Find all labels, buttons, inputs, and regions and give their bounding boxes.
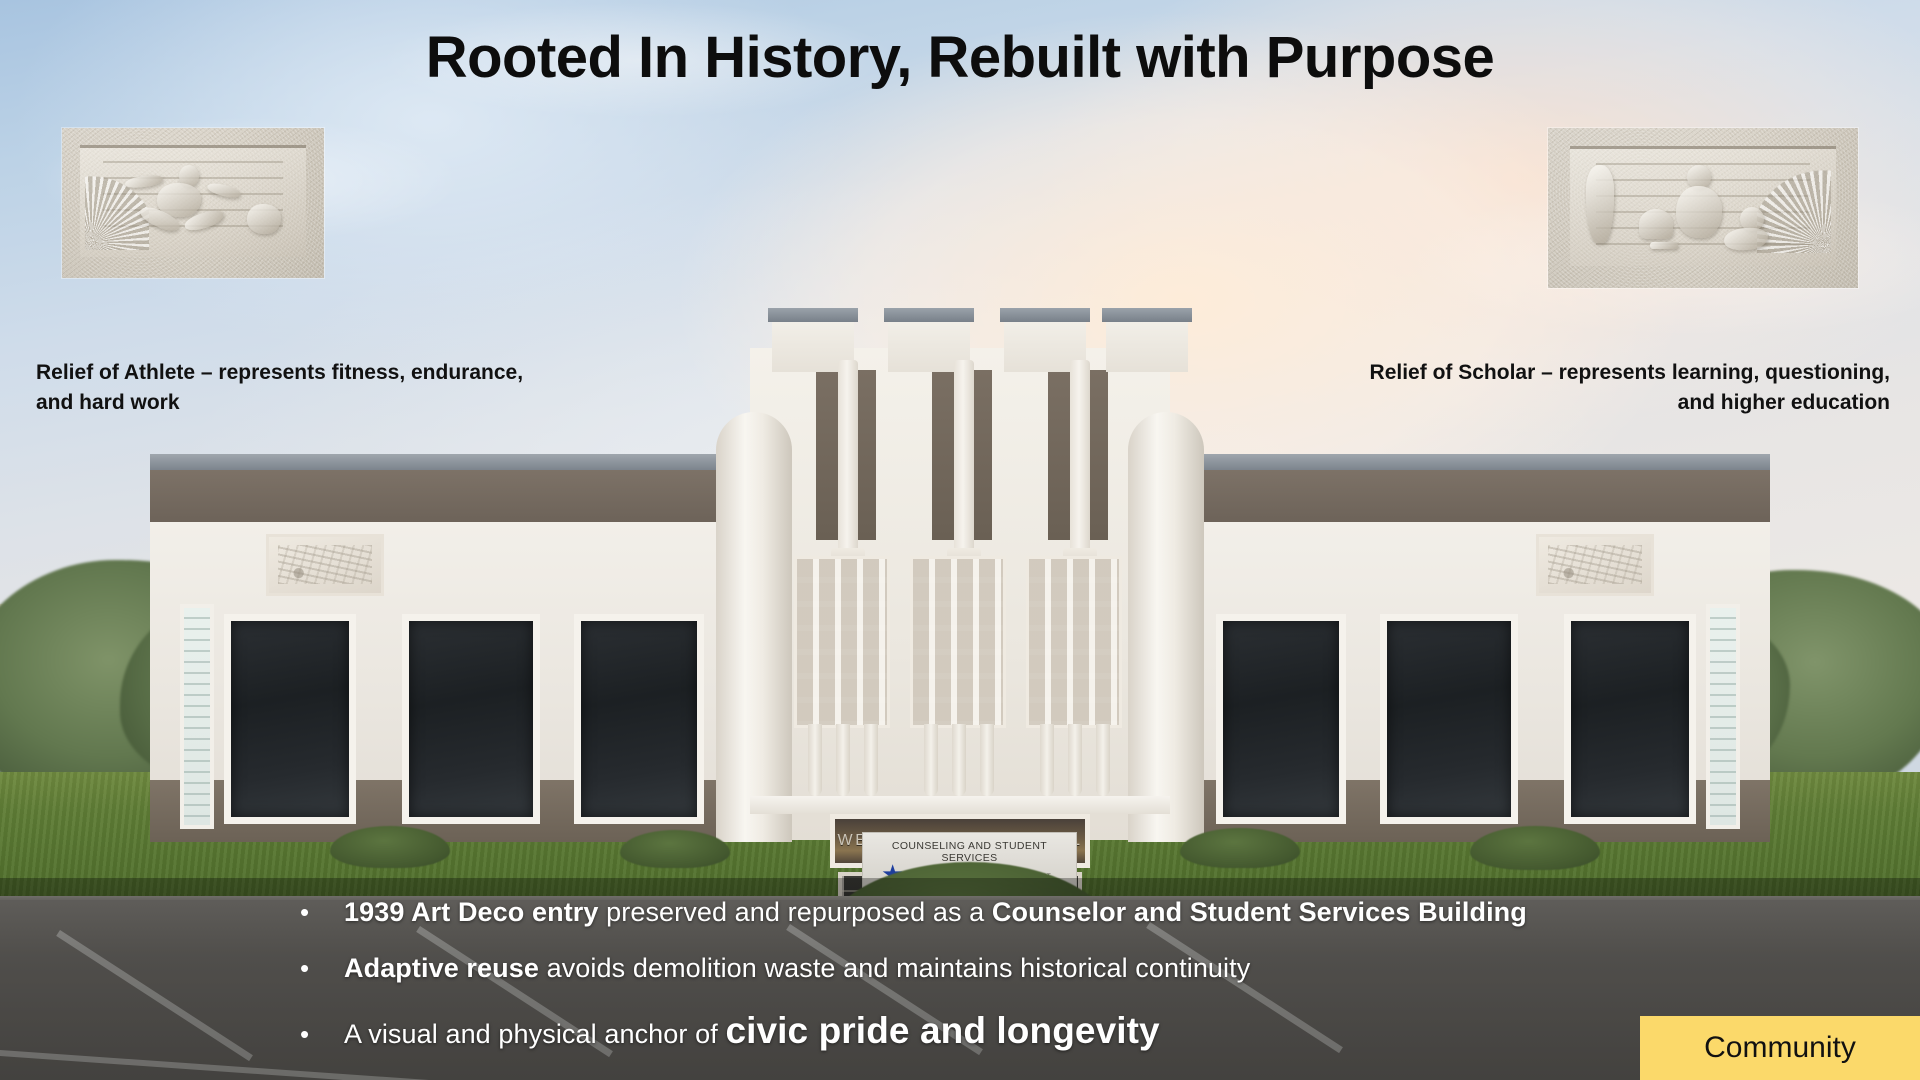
page-title: Rooted In History, Rebuilt with Purpose bbox=[0, 24, 1920, 91]
relief-of-athlete-caption: Relief of Athlete – represents fitness, … bbox=[36, 358, 556, 419]
bullet-marker: • bbox=[300, 1021, 344, 1047]
bullet-1-part-2: preserved and repurposed as a bbox=[599, 897, 992, 927]
tower-pilaster-4 bbox=[924, 724, 938, 796]
shrub-2 bbox=[620, 830, 730, 868]
window-right-2 bbox=[1380, 614, 1518, 824]
shrub-4 bbox=[1470, 826, 1600, 870]
bullet-text: Adaptive reuse avoids demolition waste a… bbox=[344, 952, 1250, 984]
building-wing-left bbox=[150, 454, 762, 842]
relief-of-scholar-image bbox=[1548, 128, 1858, 288]
glass-block-left-a bbox=[180, 604, 214, 829]
window-left-2 bbox=[402, 614, 540, 824]
bullet-3-part-1: A visual and physical anchor of bbox=[344, 1019, 725, 1049]
tower-merlon-4 bbox=[1106, 320, 1188, 372]
bullet-marker: • bbox=[300, 899, 344, 925]
bullet-3-part-2: civic pride and longevity bbox=[725, 1010, 1159, 1051]
window-left-3 bbox=[574, 614, 704, 824]
building-wing-right bbox=[1158, 454, 1770, 842]
tower-rotunda-right bbox=[1128, 412, 1204, 842]
slide-root: WEBSTER HIGH SCHOOL COUNSELING AND STUDE… bbox=[0, 0, 1920, 1080]
bullet-1-part-3: Counselor and Student Services Building bbox=[992, 897, 1527, 927]
bullet-1-part-1: 1939 Art Deco entry bbox=[344, 897, 599, 927]
relief-of-athlete-image bbox=[62, 128, 324, 278]
scholar-relief-frame bbox=[1570, 146, 1837, 266]
window-left-1 bbox=[224, 614, 356, 824]
tower-rotunda-left bbox=[716, 412, 792, 842]
tower-pilaster-1 bbox=[808, 724, 822, 796]
wing-brick-band-left bbox=[150, 470, 762, 522]
bullet-marker: • bbox=[300, 955, 344, 981]
tower-pilaster-8 bbox=[1068, 724, 1082, 796]
tower-pilaster-6 bbox=[980, 724, 994, 796]
tower-pilaster-7 bbox=[1040, 724, 1054, 796]
entry-lintel bbox=[750, 796, 1170, 814]
bullet-text: A visual and physical anchor of civic pr… bbox=[344, 1009, 1160, 1053]
community-badge[interactable]: Community bbox=[1640, 1016, 1920, 1080]
shrub-3 bbox=[1180, 828, 1300, 868]
art-deco-entry-tower: WEBSTER HIGH SCHOOL bbox=[710, 320, 1210, 840]
relief-of-scholar-caption: Relief of Scholar – represents learning,… bbox=[1330, 358, 1890, 419]
wing-cornice-left bbox=[150, 454, 762, 470]
tower-grille-2 bbox=[910, 556, 1006, 728]
scholar-left-figure bbox=[1586, 165, 1614, 243]
scholar-globe-icon bbox=[1639, 209, 1673, 239]
window-right-3 bbox=[1216, 614, 1346, 824]
bullet-2-part-1: Adaptive reuse bbox=[344, 953, 539, 983]
window-right-1 bbox=[1564, 614, 1696, 824]
athlete-relief-frame bbox=[80, 145, 305, 258]
tower-pilaster-3 bbox=[864, 724, 878, 796]
tower-pilaster-2 bbox=[836, 724, 850, 796]
bullet-list: • 1939 Art Deco entry preserved and repu… bbox=[300, 896, 1700, 1053]
wing-brick-band-right bbox=[1158, 470, 1770, 522]
facade-relief-panel-left bbox=[266, 534, 384, 596]
tower-grille-1 bbox=[794, 556, 890, 728]
scholar-relief-surface bbox=[1548, 128, 1858, 288]
list-item: • Adaptive reuse avoids demolition waste… bbox=[300, 952, 1700, 984]
athlete-relief-surface bbox=[62, 128, 324, 278]
tower-fin-2 bbox=[954, 360, 974, 552]
tower-pilaster-5 bbox=[952, 724, 966, 796]
tower-fin-1 bbox=[838, 360, 858, 552]
athlete-foliage bbox=[247, 204, 281, 234]
bullet-text: 1939 Art Deco entry preserved and repurp… bbox=[344, 896, 1527, 928]
tower-pilaster-9 bbox=[1096, 724, 1110, 796]
shrub-1 bbox=[330, 826, 450, 868]
facade-relief-panel-right bbox=[1536, 534, 1654, 596]
list-item: • 1939 Art Deco entry preserved and repu… bbox=[300, 896, 1700, 928]
tower-grille-3 bbox=[1026, 556, 1122, 728]
scholar-globe-stand bbox=[1650, 242, 1678, 249]
wing-cornice-right bbox=[1158, 454, 1770, 470]
glass-block-right-a bbox=[1706, 604, 1740, 829]
scholar-torso bbox=[1676, 186, 1722, 238]
tower-fin-3 bbox=[1070, 360, 1090, 552]
scholar-sunburst-icon bbox=[1757, 167, 1831, 253]
list-item: • A visual and physical anchor of civic … bbox=[300, 1009, 1700, 1053]
bullet-2-part-2: avoids demolition waste and maintains hi… bbox=[539, 953, 1250, 983]
community-badge-label: Community bbox=[1704, 1031, 1856, 1065]
